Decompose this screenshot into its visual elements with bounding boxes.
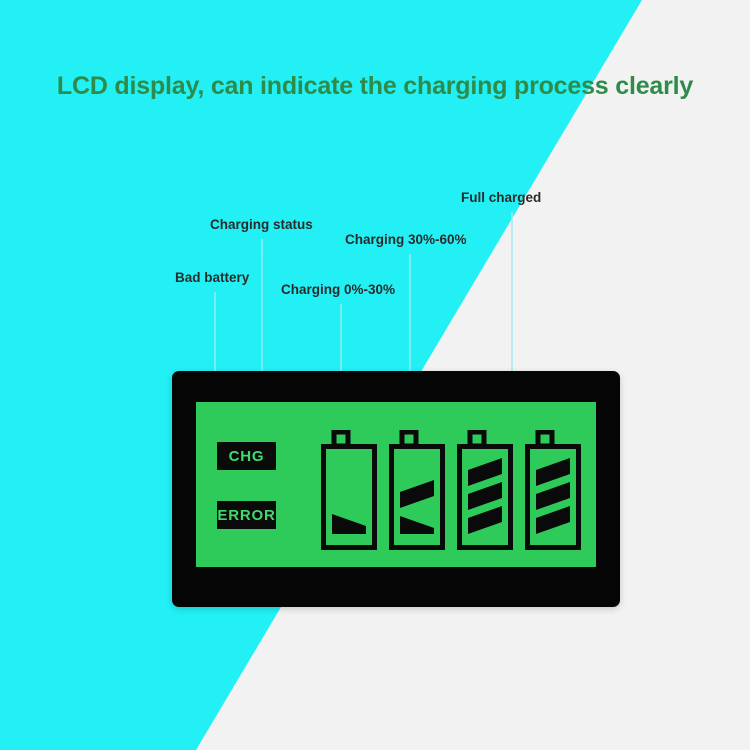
- battery-fill-stripe: [468, 506, 502, 534]
- battery-fill-stripe: [400, 480, 434, 508]
- battery-terminal-icon: [402, 432, 416, 446]
- battery-fill-stripe: [536, 482, 570, 510]
- callout-label-bad-battery: Bad battery: [175, 270, 249, 285]
- battery-fill-stripe: [400, 516, 434, 534]
- status-badge-chg: CHG: [217, 442, 276, 470]
- callout-label-charging-30-60: Charging 30%-60%: [345, 232, 467, 247]
- lcd-charger-device: CHG ERROR: [172, 371, 620, 607]
- battery-icon-slot-2: [388, 430, 446, 552]
- battery-terminal-icon: [334, 432, 348, 446]
- battery-fill-stripe: [468, 482, 502, 510]
- product-infographic: LCD display, can indicate the charging p…: [0, 0, 750, 750]
- callout-label-charging-status: Charging status: [210, 217, 313, 232]
- battery-fill-stripe: [536, 458, 570, 486]
- battery-icon-slot-4: [524, 430, 582, 552]
- battery-terminal-icon: [470, 432, 484, 446]
- callout-label-full-charged: Full charged: [461, 190, 541, 205]
- battery-icon-slot-1: [320, 430, 378, 552]
- battery-fill-stripe: [536, 506, 570, 534]
- callout-label-charging-0-30: Charging 0%-30%: [281, 282, 395, 297]
- battery-icon-slot-3: [456, 430, 514, 552]
- status-badge-error: ERROR: [217, 501, 276, 529]
- lcd-screen: CHG ERROR: [196, 402, 596, 567]
- battery-terminal-icon: [538, 432, 552, 446]
- battery-fill-stripe: [468, 458, 502, 486]
- battery-fill-stripe: [332, 514, 366, 534]
- page-title: LCD display, can indicate the charging p…: [0, 72, 750, 101]
